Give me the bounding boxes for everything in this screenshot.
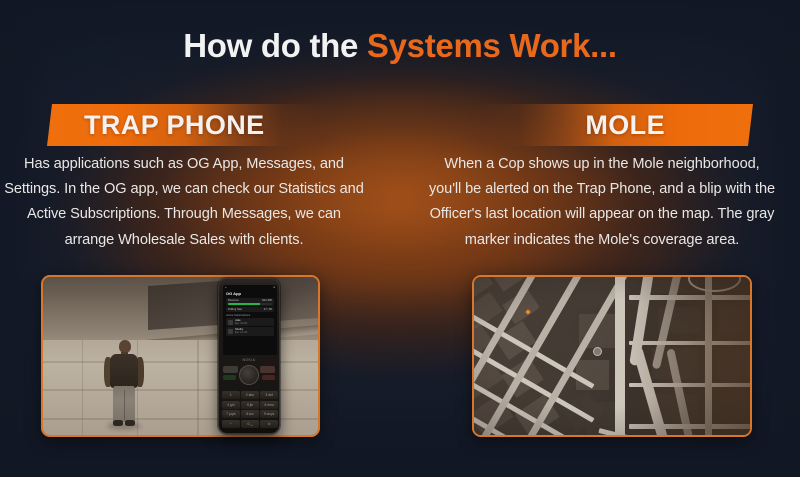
banner-mole: MOLE: [445, 104, 753, 146]
keypad-key[interactable]: 6 mno: [260, 401, 278, 409]
game-map-image: [474, 277, 750, 435]
sidewalk-seam: [82, 340, 84, 435]
sidewalk-seam: [197, 340, 199, 435]
avatar-icon: [228, 320, 233, 325]
character-leg-seam: [124, 390, 126, 420]
keypad-key[interactable]: 3 def: [260, 391, 278, 399]
keypad-key[interactable]: 4 ghi: [222, 401, 240, 409]
banner-trap-phone: TRAP PHONE: [47, 104, 357, 146]
phone-subscription-meta: Exp. 3d 04h: [235, 323, 247, 326]
phone-subscription-text: Jake Exp. 3d 04h: [235, 319, 247, 325]
phone-end-button[interactable]: [262, 375, 275, 380]
phone-dpad-button[interactable]: [239, 365, 259, 385]
keypad-key[interactable]: 0 ␣: [241, 420, 259, 428]
keypad-key[interactable]: #: [260, 420, 278, 428]
phone-stat-row[interactable]: Drilling Stat 47 / 80: [226, 307, 274, 312]
title-ellipsis: ...: [590, 27, 617, 64]
phone-stat-row-header: Revenue $24,380: [228, 299, 272, 302]
mole-coverage-marker: [593, 347, 602, 356]
media-frame-mole: [472, 275, 752, 437]
phone-section-title: Active Subscriptions: [226, 314, 274, 317]
phone-softkey-left[interactable]: [223, 366, 238, 373]
phone-progress-track: [228, 303, 272, 305]
phone-navigation-cluster[interactable]: [219, 364, 279, 390]
phone-keypad[interactable]: 1 2 abc 3 def 4 ghi 5 jkl 6 mno 7 pqrs 8…: [222, 391, 278, 428]
banner-trap-phone-label: TRAP PHONE: [84, 110, 265, 141]
body-text-trap-phone: Has applications such as OG App, Message…: [4, 152, 364, 253]
phone-call-button[interactable]: [223, 375, 236, 380]
trap-phone-device[interactable]: ● ■ OG App Revenue $24,380 Drilling Stat…: [218, 278, 280, 434]
phone-progress-fill: [228, 303, 260, 305]
character-shoe-right: [125, 420, 135, 426]
keypad-key[interactable]: *: [222, 420, 240, 428]
phone-subscription-meta: Exp. 1d 12h: [235, 332, 247, 335]
phone-app-title: OG App: [223, 290, 277, 298]
banner-mole-label: MOLE: [585, 110, 665, 141]
keypad-key[interactable]: 8 tuv: [241, 410, 259, 418]
phone-softkey-right[interactable]: [260, 366, 275, 373]
title-part-orange: Systems Work: [367, 27, 590, 64]
phone-brand-label: NOKIA: [219, 358, 279, 362]
map-city-blocks: [474, 277, 750, 435]
phone-stat-label: Revenue: [228, 299, 239, 302]
character-torso: [110, 354, 138, 388]
keypad-key[interactable]: 9 wxyz: [260, 410, 278, 418]
page-title: How do the Systems Work...: [0, 28, 800, 64]
character-shoe-left: [113, 420, 123, 426]
phone-stat-label: Drilling Stat: [228, 308, 242, 311]
phone-subscription-text: Shelby Exp. 1d 12h: [235, 328, 247, 334]
phone-stat-value: 47 / 80: [264, 308, 272, 311]
phone-subscription-item[interactable]: Jake Exp. 3d 04h: [226, 318, 274, 326]
phone-stat-row[interactable]: Revenue $24,380: [226, 298, 274, 306]
body-text-mole: When a Cop shows up in the Mole neighbor…: [428, 152, 776, 253]
signal-icon: ●: [225, 286, 227, 289]
avatar-icon: [228, 329, 233, 334]
character-figure: [101, 340, 148, 428]
keypad-key[interactable]: 7 pqrs: [222, 410, 240, 418]
phone-screen[interactable]: ● ■ OG App Revenue $24,380 Drilling Stat…: [223, 285, 277, 355]
phone-stat-value: $24,380: [262, 299, 272, 302]
keypad-key[interactable]: 1: [222, 391, 240, 399]
phone-stat-row-header: Drilling Stat 47 / 80: [228, 308, 272, 311]
slide-root: How do the Systems Work... TRAP PHONE MO…: [0, 0, 800, 477]
keypad-key[interactable]: 2 abc: [241, 391, 259, 399]
battery-icon: ■: [273, 286, 275, 289]
title-part-white: How do the: [183, 27, 367, 64]
phone-subscription-item[interactable]: Shelby Exp. 1d 12h: [226, 327, 274, 335]
keypad-key[interactable]: 5 jkl: [241, 401, 259, 409]
